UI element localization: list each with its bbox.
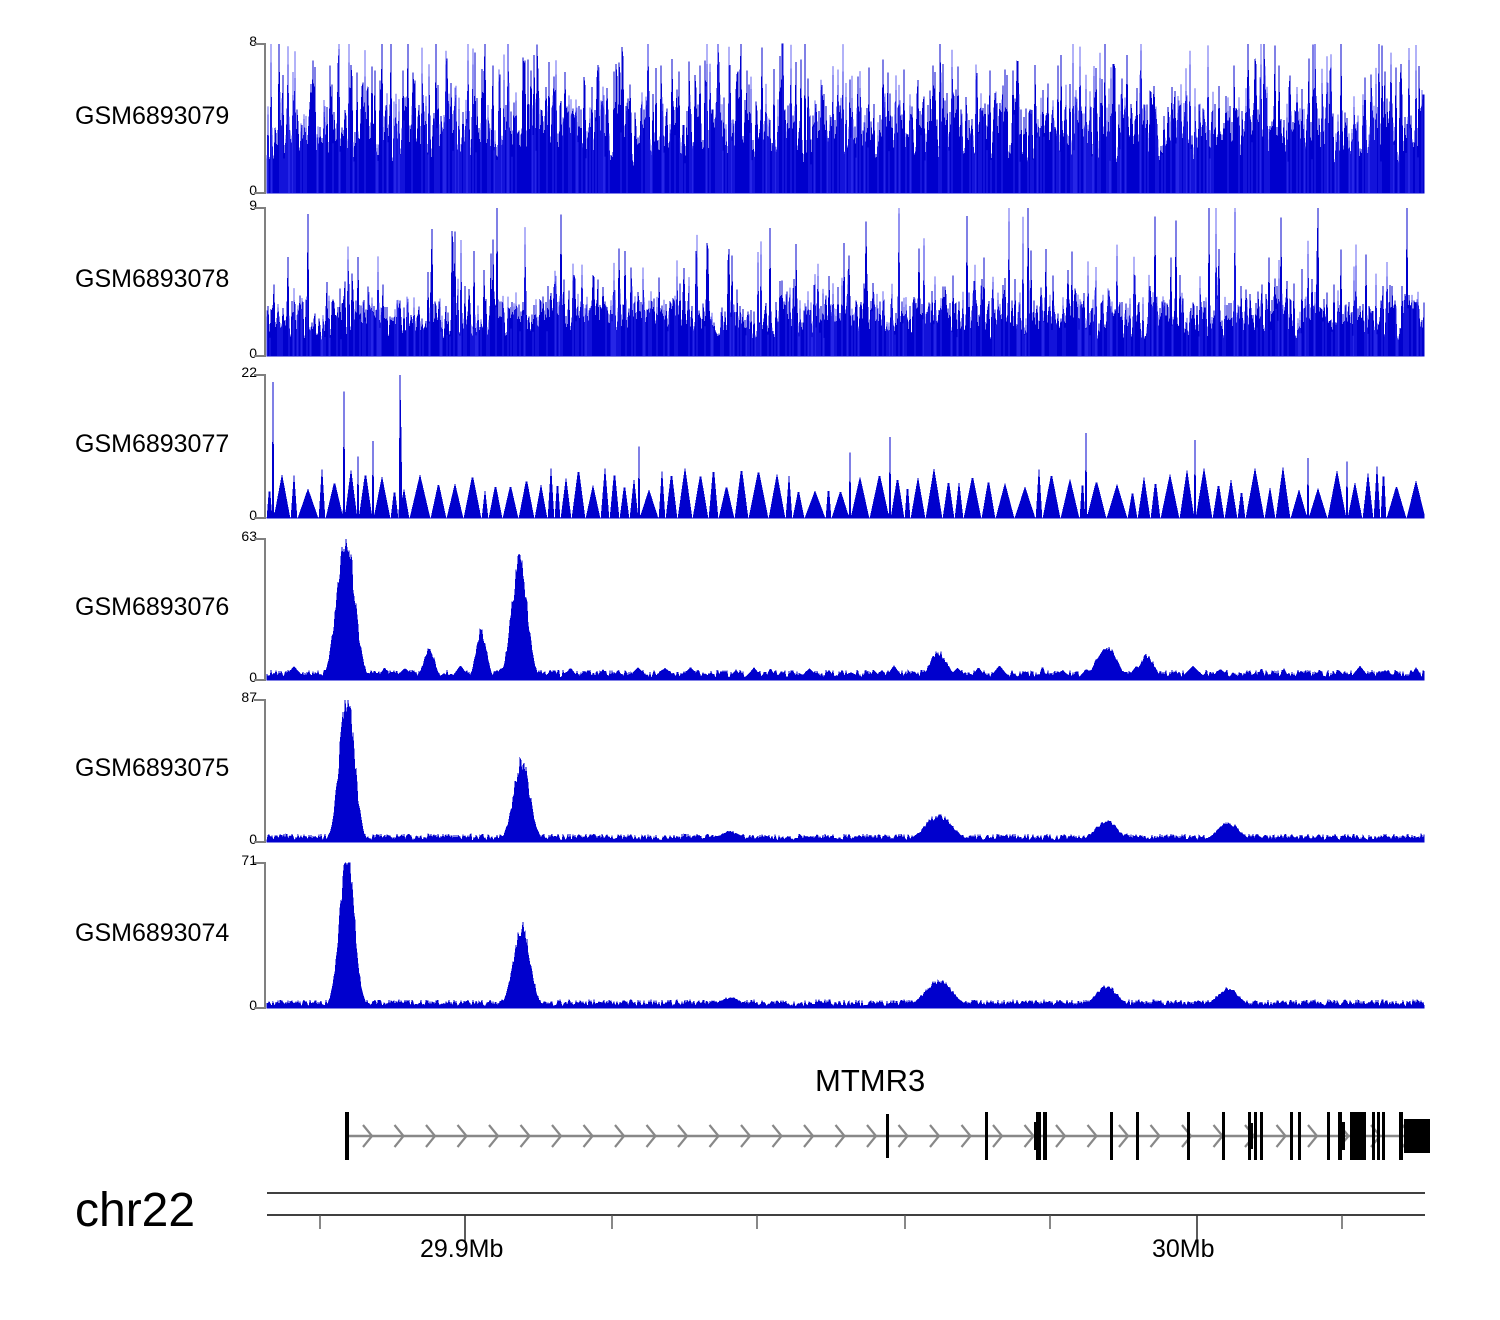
- axis-tick-label: 30Mb: [1152, 1235, 1215, 1264]
- track-ymax-label: 71: [205, 852, 257, 868]
- genome-browser-figure: GSM689307980GSM689307890GSM6893077220GSM…: [0, 0, 1500, 1320]
- gene-model-track[interactable]: [0, 1100, 1500, 1180]
- chromosome-axis: [0, 1185, 1500, 1245]
- track-ymin-label: 0: [205, 507, 257, 523]
- track-label-gsm6893078: GSM6893078: [75, 265, 229, 294]
- axis-tick-label: 29.9Mb: [420, 1235, 503, 1264]
- track-label-gsm6893074: GSM6893074: [75, 919, 229, 948]
- coverage-track-gsm6893079: [252, 43, 1428, 195]
- track-ymax-label: 87: [205, 689, 257, 705]
- chromosome-label: chr22: [75, 1183, 195, 1238]
- coverage-track-gsm6893077: [252, 374, 1428, 520]
- coverage-track-gsm6893074: [252, 862, 1428, 1010]
- track-ymin-label: 0: [205, 831, 257, 847]
- track-ymin-label: 0: [205, 997, 257, 1013]
- coverage-track-gsm6893076: [252, 538, 1428, 682]
- track-ymax-label: 63: [205, 528, 257, 544]
- coverage-track-gsm6893078: [252, 207, 1428, 358]
- gene-name-label: MTMR3: [815, 1063, 925, 1099]
- track-ymin-label: 0: [205, 345, 257, 361]
- track-label-gsm6893076: GSM6893076: [75, 593, 229, 622]
- track-ymin-label: 0: [205, 669, 257, 685]
- track-label-gsm6893077: GSM6893077: [75, 430, 229, 459]
- track-ymax-label: 9: [205, 197, 257, 213]
- track-ymax-label: 22: [205, 364, 257, 380]
- coverage-track-gsm6893075: [252, 699, 1428, 844]
- track-label-gsm6893075: GSM6893075: [75, 754, 229, 783]
- track-label-gsm6893079: GSM6893079: [75, 102, 229, 131]
- track-ymin-label: 0: [205, 182, 257, 198]
- track-ymax-label: 8: [205, 33, 257, 49]
